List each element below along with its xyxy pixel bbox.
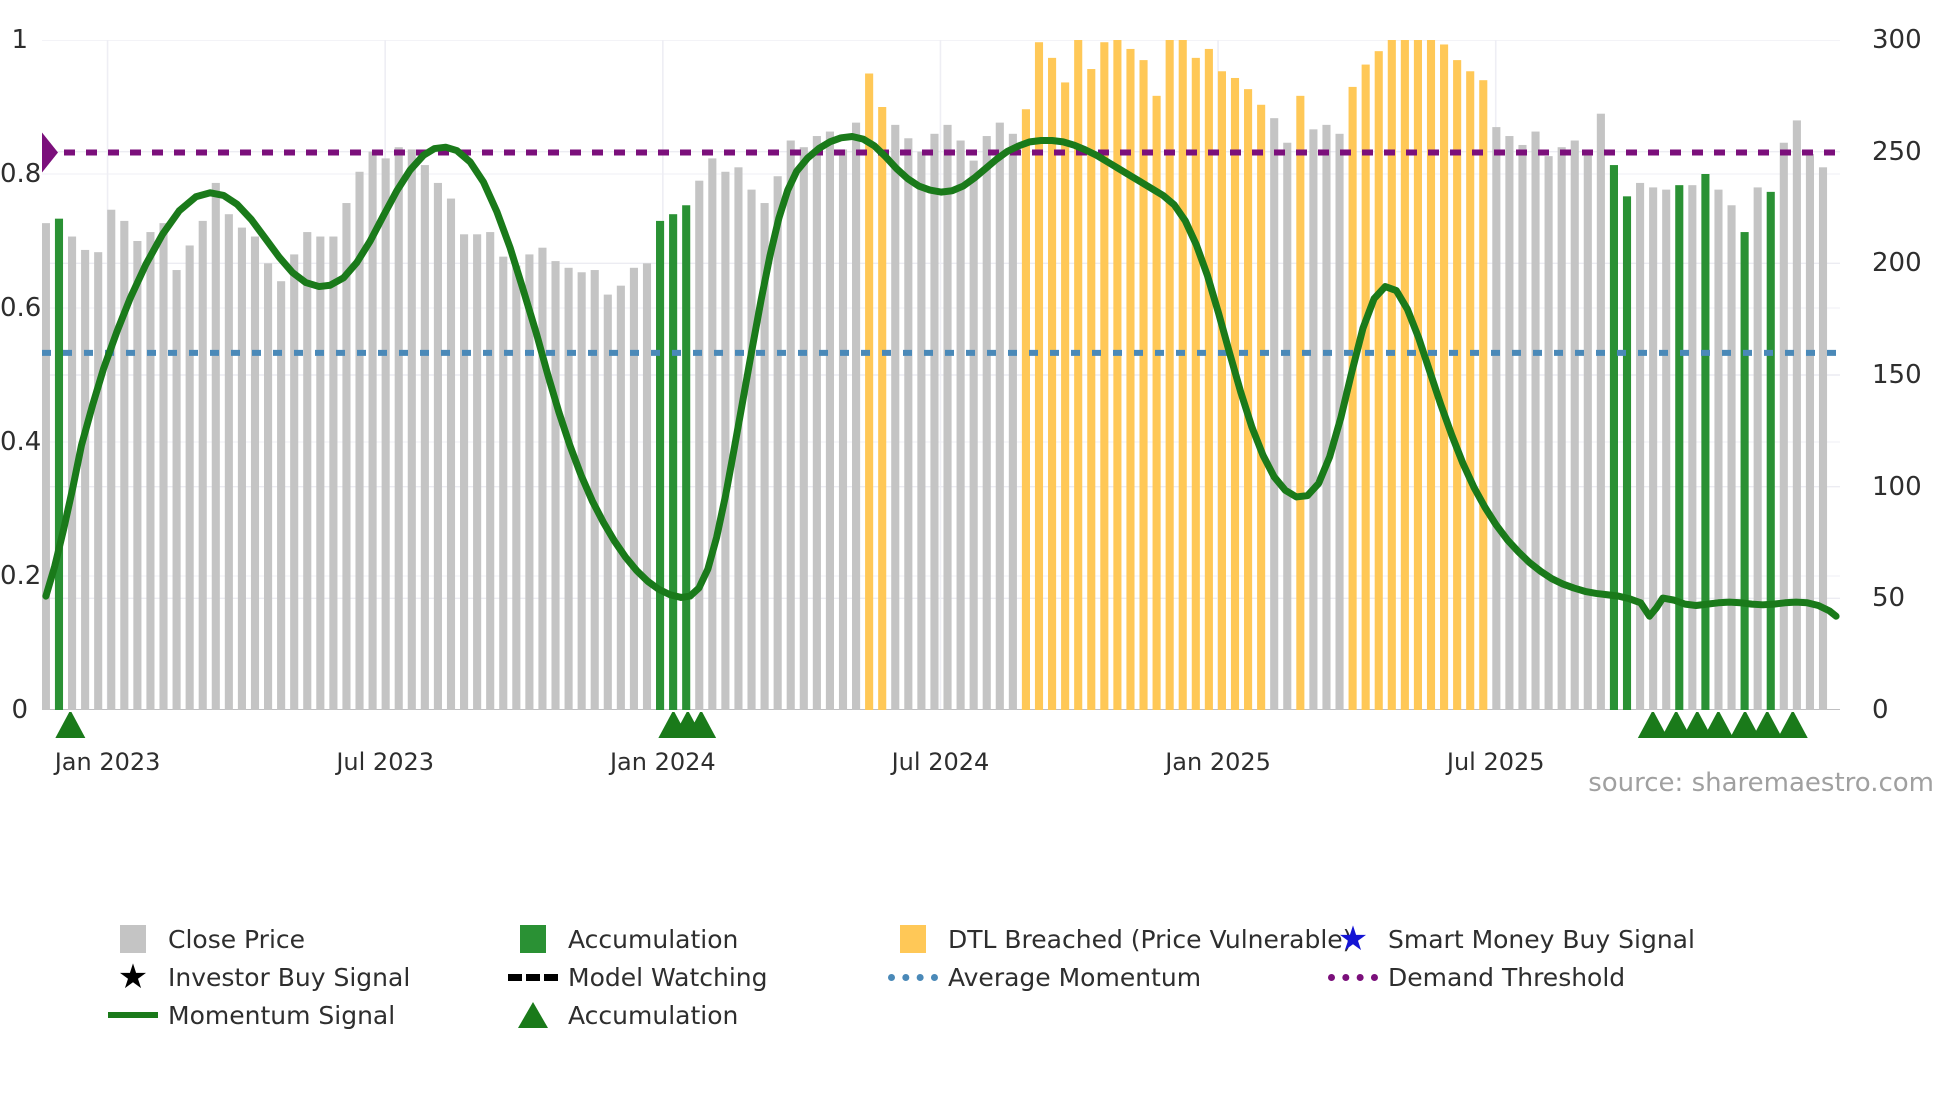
- close-price-bar[interactable]: [329, 237, 337, 710]
- close-price-bar[interactable]: [1113, 40, 1121, 710]
- close-price-bar[interactable]: [1558, 147, 1566, 710]
- close-price-bar[interactable]: [107, 210, 115, 710]
- close-price-bar[interactable]: [1636, 183, 1644, 710]
- close-price-bar[interactable]: [1309, 129, 1317, 710]
- close-price-bar[interactable]: [1139, 60, 1147, 710]
- close-price-bar[interactable]: [303, 232, 311, 710]
- y-axis-left-tick-label: 0.4: [0, 427, 28, 457]
- close-price-bar[interactable]: [1061, 82, 1069, 710]
- y-axis-left-tick-label: 1: [0, 25, 28, 55]
- close-price-bar[interactable]: [1767, 192, 1775, 710]
- close-price-bar[interactable]: [682, 205, 690, 710]
- close-price-bar[interactable]: [499, 257, 507, 710]
- close-price-bar[interactable]: [1388, 40, 1396, 710]
- legend-line-icon: [104, 1012, 162, 1018]
- close-price-bar[interactable]: [486, 232, 494, 710]
- close-price-bar[interactable]: [813, 136, 821, 710]
- y-axis-right-tick-label: 50: [1872, 583, 1905, 613]
- close-price-bar[interactable]: [212, 183, 220, 710]
- legend-item-label: Model Watching: [562, 963, 768, 992]
- close-price-bars[interactable]: [42, 40, 1827, 710]
- legend-item-label: Close Price: [162, 925, 305, 954]
- close-price-bar[interactable]: [1283, 143, 1291, 710]
- close-price-bar[interactable]: [1793, 120, 1801, 710]
- legend-item[interactable]: Accumulation: [504, 996, 884, 1034]
- close-price-bar[interactable]: [630, 268, 638, 710]
- close-price-bar[interactable]: [238, 228, 246, 710]
- legend-item[interactable]: Close Price: [104, 920, 504, 958]
- close-price-bar[interactable]: [1440, 44, 1448, 710]
- legend-row: Momentum SignalAccumulation: [104, 996, 1904, 1034]
- close-price-bar[interactable]: [1453, 60, 1461, 710]
- close-price-bar[interactable]: [81, 250, 89, 710]
- close-price-bar[interactable]: [1597, 114, 1605, 710]
- chart-legend: Close PriceAccumulationDTL Breached (Pri…: [104, 920, 1904, 1034]
- close-price-bar[interactable]: [1505, 136, 1513, 710]
- accumulation-triangle-marker: [55, 712, 85, 738]
- close-price-bar[interactable]: [970, 161, 978, 710]
- close-price-bar[interactable]: [173, 270, 181, 710]
- close-price-bar[interactable]: [996, 123, 1004, 710]
- close-price-bar[interactable]: [1296, 96, 1304, 710]
- close-price-bar[interactable]: [225, 214, 233, 710]
- legend-item[interactable]: Model Watching: [504, 958, 884, 996]
- y-axis-right-tick-label: 100: [1872, 472, 1922, 502]
- legend-item[interactable]: Average Momentum: [884, 958, 1324, 996]
- accumulation-triangle-marker: [1752, 712, 1782, 738]
- close-price-bar[interactable]: [1009, 134, 1017, 710]
- close-price-bar[interactable]: [656, 221, 664, 710]
- legend-triangle-icon: [504, 1002, 562, 1028]
- close-price-bar[interactable]: [878, 107, 886, 710]
- close-price-bar[interactable]: [1375, 51, 1383, 710]
- close-price-bar[interactable]: [747, 190, 755, 710]
- close-price-bar[interactable]: [1545, 156, 1553, 710]
- close-price-bar[interactable]: [1662, 190, 1670, 710]
- legend-item-label: Accumulation: [562, 925, 738, 954]
- close-price-bar[interactable]: [839, 149, 847, 710]
- legend-dotted-line-icon: [884, 974, 942, 981]
- close-price-bar[interactable]: [1414, 40, 1422, 710]
- close-price-bar[interactable]: [774, 176, 782, 710]
- legend-row: Close PriceAccumulationDTL Breached (Pri…: [104, 920, 1904, 958]
- close-price-bar[interactable]: [695, 181, 703, 710]
- close-price-bar[interactable]: [408, 149, 416, 710]
- close-price-bar[interactable]: [159, 223, 167, 710]
- demand-threshold-diamond-marker: [42, 133, 58, 173]
- close-price-bar[interactable]: [1126, 49, 1134, 710]
- close-price-bar[interactable]: [1218, 71, 1226, 710]
- legend-item-label: DTL Breached (Price Vulnerable): [942, 925, 1352, 954]
- close-price-bar[interactable]: [1675, 185, 1683, 710]
- legend-dashed-line-icon: [504, 974, 562, 981]
- chart-figure: 00.20.40.60.81 050100150200250300 Jan 20…: [0, 0, 1960, 1102]
- close-price-bar[interactable]: [1479, 80, 1487, 710]
- close-price-bar[interactable]: [1584, 154, 1592, 710]
- accumulation-triangle-marker: [1703, 712, 1733, 738]
- y-axis-left-tick-label: 0.6: [0, 293, 28, 323]
- close-price-bar[interactable]: [721, 172, 729, 710]
- y-axis-right-tick-label: 250: [1872, 137, 1922, 167]
- close-price-bar[interactable]: [891, 125, 899, 710]
- accumulation-marker-band: [42, 712, 1840, 772]
- close-price-bar[interactable]: [94, 252, 102, 710]
- close-price-bar[interactable]: [865, 74, 873, 711]
- close-price-bar[interactable]: [787, 141, 795, 711]
- close-price-bar[interactable]: [1531, 132, 1539, 710]
- close-price-bar[interactable]: [1688, 185, 1696, 710]
- legend-row: ★Investor Buy SignalModel WatchingAverag…: [104, 958, 1904, 996]
- close-price-bar[interactable]: [1179, 40, 1187, 710]
- close-price-bar[interactable]: [1571, 141, 1579, 711]
- close-price-bar[interactable]: [1701, 174, 1709, 710]
- close-price-bar[interactable]: [146, 232, 154, 710]
- close-price-bar[interactable]: [1074, 40, 1082, 710]
- close-price-bar[interactable]: [133, 241, 141, 710]
- close-price-bar[interactable]: [917, 152, 925, 710]
- close-price-bar[interactable]: [669, 214, 677, 710]
- close-price-bar[interactable]: [1087, 69, 1095, 710]
- close-price-bar[interactable]: [930, 134, 938, 710]
- close-price-bar[interactable]: [55, 219, 63, 710]
- accumulation-triangle-marker: [1778, 712, 1808, 738]
- legend-item-empty: [1324, 996, 1764, 1034]
- close-price-bar[interactable]: [264, 263, 272, 710]
- close-price-bar[interactable]: [1401, 40, 1409, 710]
- close-price-bar[interactable]: [852, 123, 860, 710]
- close-price-bar[interactable]: [1714, 190, 1722, 710]
- close-price-bar[interactable]: [473, 234, 481, 710]
- close-price-bar[interactable]: [1205, 49, 1213, 710]
- legend-item-label: Average Momentum: [942, 963, 1201, 992]
- close-price-bar[interactable]: [42, 223, 50, 710]
- close-price-bar[interactable]: [1362, 65, 1370, 710]
- close-price-bar[interactable]: [1610, 165, 1618, 710]
- legend-item-empty: [884, 996, 1324, 1034]
- close-price-bar[interactable]: [551, 261, 559, 710]
- demand-threshold-start-marker: [42, 133, 58, 173]
- close-price-bar[interactable]: [708, 158, 716, 710]
- close-price-bar[interactable]: [277, 281, 285, 710]
- chart-canvas: [42, 40, 1840, 710]
- close-price-bar[interactable]: [983, 136, 991, 710]
- close-price-bar[interactable]: [421, 165, 429, 710]
- close-price-bar[interactable]: [1166, 40, 1174, 710]
- close-price-bar[interactable]: [643, 263, 651, 710]
- close-price-bar[interactable]: [1649, 187, 1657, 710]
- close-price-bar[interactable]: [538, 248, 546, 710]
- close-price-bar[interactable]: [199, 221, 207, 710]
- close-price-bar[interactable]: [591, 270, 599, 710]
- close-price-bar[interactable]: [1492, 127, 1500, 710]
- y-axis-right-tick-label: 0: [1872, 695, 1889, 725]
- legend-item[interactable]: Accumulation: [504, 920, 884, 958]
- close-price-bar[interactable]: [1819, 167, 1827, 710]
- legend-item-label: Investor Buy Signal: [162, 963, 410, 992]
- close-price-bar[interactable]: [1806, 154, 1814, 710]
- close-price-bar[interactable]: [1623, 196, 1631, 710]
- close-price-bar[interactable]: [1270, 118, 1278, 710]
- close-price-bar[interactable]: [957, 141, 965, 711]
- plot-area: [42, 40, 1840, 710]
- close-price-bar[interactable]: [395, 147, 403, 710]
- y-axis-left-tick-label: 0.2: [0, 561, 28, 591]
- close-price-bar[interactable]: [1780, 143, 1788, 710]
- legend-item-label: Demand Threshold: [1382, 963, 1625, 992]
- close-price-bar[interactable]: [1257, 105, 1265, 710]
- close-price-bar[interactable]: [1518, 145, 1526, 710]
- close-price-bar[interactable]: [1754, 187, 1762, 710]
- close-price-bar[interactable]: [447, 199, 455, 710]
- close-price-bar[interactable]: [460, 234, 468, 710]
- legend-item[interactable]: ★Smart Money Buy Signal: [1324, 920, 1764, 958]
- y-axis-left-tick-label: 0.8: [0, 159, 28, 189]
- y-axis-right-tick-label: 150: [1872, 360, 1922, 390]
- legend-item-label: Accumulation: [562, 1001, 738, 1030]
- legend-item[interactable]: ★Investor Buy Signal: [104, 958, 504, 996]
- close-price-bar[interactable]: [800, 147, 808, 710]
- legend-star-icon: ★: [104, 960, 162, 994]
- close-price-bar[interactable]: [1100, 42, 1108, 710]
- legend-square-icon: [884, 925, 942, 953]
- legend-item[interactable]: Momentum Signal: [104, 996, 504, 1034]
- close-price-bar[interactable]: [1192, 58, 1200, 710]
- legend-item-label: Momentum Signal: [162, 1001, 395, 1030]
- close-price-bar[interactable]: [826, 132, 834, 710]
- y-axis-right-tick-label: 200: [1872, 248, 1922, 278]
- close-price-bar[interactable]: [434, 183, 442, 710]
- legend-square-icon: [104, 925, 162, 953]
- close-price-bar[interactable]: [382, 158, 390, 710]
- legend-item-label: Smart Money Buy Signal: [1382, 925, 1695, 954]
- close-price-bar[interactable]: [943, 125, 951, 710]
- close-price-bar[interactable]: [1322, 125, 1330, 710]
- close-price-bar[interactable]: [1741, 232, 1749, 710]
- close-price-bar[interactable]: [290, 254, 298, 710]
- y-axis-right-tick-label: 300: [1872, 25, 1922, 55]
- close-price-bar[interactable]: [251, 237, 259, 710]
- legend-dotted-line-icon: [1324, 974, 1382, 981]
- close-price-bar[interactable]: [120, 221, 128, 710]
- close-price-bar[interactable]: [1727, 205, 1735, 710]
- close-price-bar[interactable]: [512, 266, 520, 710]
- close-price-bar[interactable]: [1022, 109, 1030, 710]
- y-axis-left-tick-label: 0: [0, 695, 28, 725]
- legend-item[interactable]: DTL Breached (Price Vulnerable): [884, 920, 1324, 958]
- legend-square-icon: [504, 925, 562, 953]
- close-price-bar[interactable]: [1466, 71, 1474, 710]
- close-price-bar[interactable]: [565, 268, 573, 710]
- close-price-bar[interactable]: [904, 138, 912, 710]
- close-price-bar[interactable]: [316, 237, 324, 710]
- close-price-bar[interactable]: [617, 286, 625, 710]
- legend-item[interactable]: Demand Threshold: [1324, 958, 1764, 996]
- close-price-bar[interactable]: [1349, 87, 1357, 710]
- close-price-bar[interactable]: [186, 245, 194, 710]
- legend-star-icon: ★: [1324, 922, 1382, 956]
- close-price-bar[interactable]: [604, 295, 612, 710]
- source-attribution: source: sharemaestro.com: [1588, 768, 1934, 798]
- close-price-bar[interactable]: [1048, 58, 1056, 710]
